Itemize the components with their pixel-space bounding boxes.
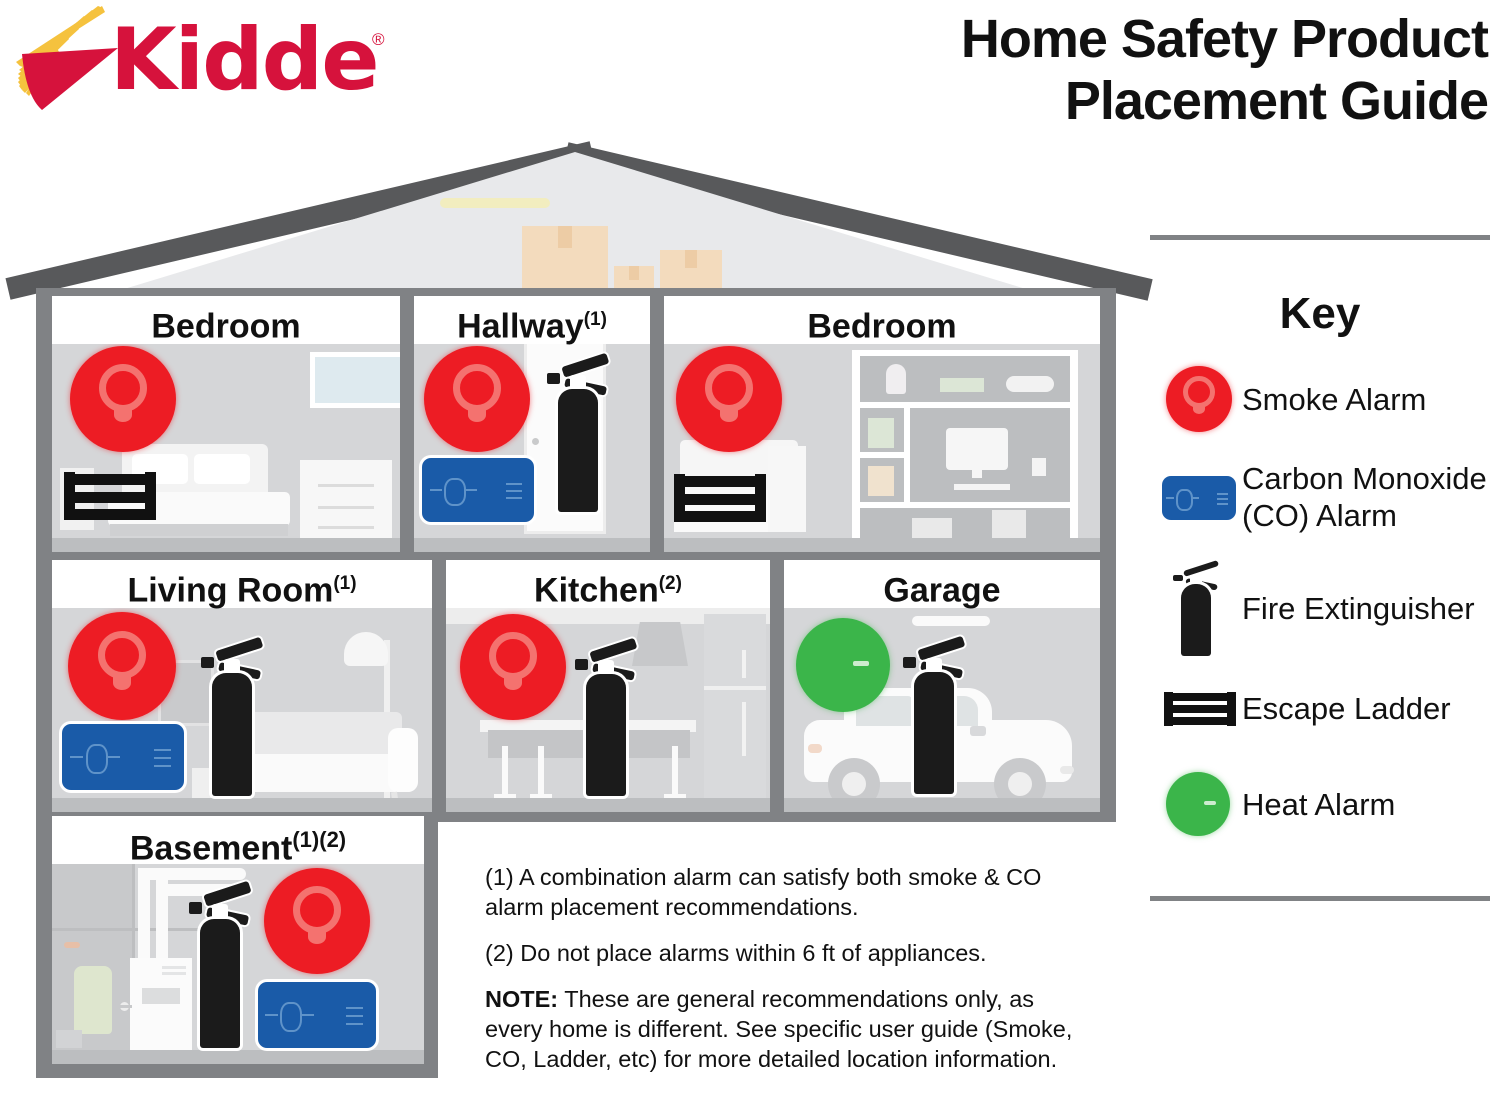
- kidde-fan-icon: [6, 4, 126, 114]
- co-alarm-tick: [346, 1023, 363, 1025]
- key-label-fire-extinguisher: Fire Extinguisher: [1242, 590, 1475, 627]
- room-basement[interactable]: Basement(1)(2): [52, 816, 424, 1064]
- shelf-box: [56, 1030, 82, 1048]
- room-divider-main-2: [770, 560, 784, 812]
- extinguisher-body: [914, 672, 955, 794]
- smoke-alarm-icon[interactable]: [70, 346, 176, 452]
- room-label-bedroom-left: Bedroom: [52, 296, 400, 344]
- smoke-alarm-ring: [705, 364, 753, 412]
- co-alarm-vent: [280, 1002, 302, 1032]
- key-label-heat-alarm: Heat Alarm: [1242, 786, 1395, 823]
- page-title-line1: Home Safety Product: [768, 8, 1488, 70]
- heat-alarm-icon[interactable]: [796, 618, 890, 712]
- key-bottom-rule: [1150, 896, 1490, 901]
- smoke-alarm-icon[interactable]: [424, 346, 530, 452]
- co-alarm-tick: [1166, 497, 1174, 499]
- co-alarm-tick: [107, 756, 120, 758]
- refrigerator: [704, 614, 766, 800]
- room-divider-upper-1: [400, 296, 414, 554]
- dresser-drawer-line: [318, 506, 374, 509]
- smoke-alarm-icon: [1150, 360, 1242, 438]
- barstool: [672, 746, 678, 798]
- dresser-drawer-line: [318, 484, 374, 487]
- room-bedroom-left[interactable]: Bedroom: [52, 296, 400, 552]
- room-label-text: Living Room: [127, 571, 333, 609]
- extinguisher-handle: [203, 881, 252, 907]
- co-alarm-icon[interactable]: [258, 982, 376, 1048]
- room-label-text: Basement: [130, 829, 293, 867]
- smoke-alarm-icon[interactable]: [264, 868, 370, 974]
- room-kitchen[interactable]: Kitchen(2): [446, 560, 770, 812]
- key-legend: Key Smoke Alarm Carbon Monoxide (CO) Ala…: [1150, 235, 1490, 901]
- keyboard: [954, 484, 1010, 490]
- barstool: [502, 746, 508, 798]
- extinguisher-body: [212, 673, 253, 796]
- room-label-sup: (1): [584, 309, 607, 330]
- extinguisher-pin: [189, 902, 202, 914]
- attic-space: [40, 138, 1110, 308]
- key-label-co-alarm: Carbon Monoxide (CO) Alarm: [1242, 460, 1490, 534]
- extinguisher-pin: [575, 659, 588, 670]
- smoke-alarm-icon[interactable]: [68, 612, 176, 720]
- car-mirror: [970, 726, 986, 736]
- room-label-text: Bedroom: [151, 307, 300, 345]
- fire-extinguisher-icon: [1150, 556, 1242, 660]
- garage-scene: [784, 606, 1100, 812]
- key-item-smoke-alarm[interactable]: Smoke Alarm: [1150, 360, 1490, 438]
- key-label-smoke-alarm: Smoke Alarm: [1242, 381, 1426, 418]
- smoke-alarm-ring: [99, 364, 147, 412]
- room-floor: [446, 798, 770, 812]
- heat-alarm-dash: [1204, 801, 1216, 805]
- escape-ladder-icon[interactable]: [674, 474, 766, 522]
- smoke-alarm-bulb: [114, 408, 132, 422]
- key-item-escape-ladder[interactable]: Escape Ladder: [1150, 660, 1490, 756]
- key-heading: Key: [1150, 240, 1490, 360]
- barstool: [538, 746, 544, 798]
- room-label-basement: Basement(1)(2): [52, 816, 424, 864]
- extinguisher-handle: [917, 636, 965, 661]
- pillow: [194, 454, 250, 484]
- room-divider-main-1: [432, 560, 446, 812]
- co-alarm-vent: [1176, 489, 1193, 511]
- escape-ladder-icon[interactable]: [64, 472, 156, 520]
- ladder-rung: [1164, 705, 1236, 713]
- footnote-2: (2) Do not place alarms within 6 ft of a…: [485, 938, 1085, 968]
- room-garage[interactable]: Garage: [784, 560, 1100, 812]
- co-alarm-tick: [506, 483, 522, 485]
- supply-line: [112, 1005, 132, 1008]
- co-alarm-tick: [506, 497, 522, 499]
- key-item-co-alarm[interactable]: Carbon Monoxide (CO) Alarm: [1150, 438, 1490, 556]
- co-alarm-tick: [346, 1007, 363, 1009]
- ladder-rung: [64, 509, 156, 520]
- shelf-figurine: [886, 364, 906, 394]
- attic-light-fixture: [440, 198, 550, 208]
- heat-alarm-dash: [853, 661, 869, 666]
- co-alarm-tick: [1217, 498, 1228, 500]
- extinguisher-pin: [903, 657, 916, 668]
- pipe-horizontal: [138, 868, 246, 880]
- ladder-rung: [1164, 717, 1236, 725]
- co-alarm-vent: [444, 478, 466, 506]
- box-flap: [558, 226, 572, 248]
- co-alarm-tick: [154, 765, 171, 767]
- box-flap: [685, 250, 697, 268]
- extinguisher-handle: [1183, 561, 1219, 578]
- fire-extinguisher-icon[interactable]: [200, 638, 264, 796]
- key-item-fire-extinguisher[interactable]: Fire Extinguisher: [1150, 556, 1490, 660]
- room-label-text: Kitchen: [534, 571, 659, 609]
- smoke-alarm-ring: [489, 632, 537, 680]
- furnace-vent: [162, 966, 186, 969]
- co-alarm-tick: [1217, 493, 1228, 495]
- co-alarm-tick: [430, 489, 442, 491]
- smoke-alarm-bulb: [504, 676, 522, 690]
- water-heater: [74, 966, 112, 1034]
- room-floor: [52, 538, 400, 552]
- footnote-note-body: These are general recommendations only, …: [485, 986, 1072, 1072]
- car-headlight: [808, 744, 822, 753]
- room-bedroom-right[interactable]: Bedroom: [664, 296, 1100, 552]
- escape-ladder-icon: [1150, 660, 1242, 756]
- room-label-garage: Garage: [784, 560, 1100, 608]
- room-hallway[interactable]: Hallway(1): [414, 296, 650, 552]
- desk-under-area: [860, 508, 1070, 542]
- refrigerator-handle: [742, 702, 746, 756]
- pencil-cup: [1032, 458, 1046, 476]
- room-divider-upper-2: [650, 296, 664, 554]
- room-label-living-room: Living Room(1): [52, 560, 432, 608]
- smoke-alarm-bulb: [113, 676, 131, 690]
- box-flap: [629, 266, 639, 280]
- refrigerator-handle: [742, 650, 746, 678]
- footnote-1: (1) A combination alarm can satisfy both…: [485, 862, 1085, 922]
- smoke-alarm-bulb: [468, 408, 486, 422]
- fire-extinguisher-icon[interactable]: [188, 882, 252, 1048]
- smoke-alarm-ring: [293, 886, 341, 934]
- co-alarm-icon[interactable]: [62, 724, 184, 790]
- bedroom-left-scene: [52, 342, 400, 552]
- smoke-alarm-icon[interactable]: [460, 614, 566, 720]
- furnace-panel: [142, 988, 180, 1004]
- page-title: Home Safety Product Placement Guide: [768, 8, 1488, 132]
- registered-mark: ®: [372, 30, 385, 50]
- monitor: [946, 428, 1008, 470]
- co-alarm-tick: [346, 1015, 363, 1017]
- key-label-escape-ladder: Escape Ladder: [1242, 690, 1451, 727]
- smoke-alarm-bulb: [308, 930, 326, 944]
- footnotes: (1) A combination alarm can satisfy both…: [485, 862, 1085, 1090]
- shelf-picture-frame: [868, 466, 894, 496]
- window: [310, 352, 400, 408]
- shelf-book-stack: [940, 378, 984, 392]
- smoke-alarm-bulb: [1193, 404, 1205, 414]
- room-floor: [52, 1050, 424, 1064]
- kitchen-scene: [446, 606, 770, 812]
- monitor-stand: [972, 470, 982, 478]
- extinguisher-body: [200, 919, 241, 1048]
- room-floor: [784, 798, 1100, 812]
- bed-base: [110, 524, 288, 536]
- room-label-text: Garage: [883, 571, 1000, 609]
- room-living-room[interactable]: Living Room(1): [52, 560, 432, 812]
- ladder-rung: [1164, 693, 1236, 701]
- room-label-sup: (1)(2): [292, 827, 346, 852]
- smoke-alarm-icon[interactable]: [676, 346, 782, 452]
- co-alarm-tick: [301, 1014, 314, 1016]
- pipe-vertical: [156, 868, 168, 960]
- co-alarm-tick: [154, 757, 171, 759]
- furnace-vent: [162, 972, 186, 975]
- co-alarm-tick: [1217, 503, 1228, 505]
- ladder-rung: [674, 476, 766, 487]
- co-alarm-icon: [1150, 438, 1242, 556]
- door-knob: [532, 438, 539, 445]
- co-alarm-tick: [465, 489, 477, 491]
- floor-lamp-shade: [344, 632, 388, 666]
- living-room-scene: [52, 606, 432, 812]
- shelf-birds: [1006, 376, 1054, 392]
- house-left-wall: [36, 288, 52, 1078]
- garage-door-light: [912, 616, 990, 626]
- ladder-rung: [674, 511, 766, 522]
- room-label-sup: (1): [333, 573, 356, 594]
- room-label-text: Bedroom: [807, 307, 956, 345]
- footnote-note-label: NOTE:: [485, 986, 558, 1012]
- ladder-rung: [64, 474, 156, 485]
- co-alarm-vent: [86, 744, 108, 774]
- room-label-bedroom-right: Bedroom: [664, 296, 1100, 344]
- extinguisher-handle: [561, 352, 609, 377]
- smoke-alarm-ring: [453, 364, 501, 412]
- basement-scene: [52, 862, 424, 1064]
- ladder-rung: [674, 494, 766, 505]
- house-bottom-plate: [36, 1064, 438, 1078]
- car-taillight: [1060, 766, 1074, 774]
- kidde-wordmark: Kidde: [110, 10, 378, 110]
- co-alarm-tick: [265, 1014, 278, 1016]
- key-item-heat-alarm[interactable]: Heat Alarm: [1150, 756, 1490, 852]
- extinguisher-pin: [1173, 575, 1183, 581]
- nightstand: [768, 446, 806, 532]
- extinguisher-pin: [201, 657, 214, 668]
- co-alarm-tick: [1191, 497, 1199, 499]
- extinguisher-handle: [215, 636, 263, 661]
- bedroom-right-scene: [664, 342, 1100, 552]
- room-label-sup: (2): [659, 573, 682, 594]
- hallway-scene: [414, 342, 650, 552]
- extinguisher-body: [558, 389, 599, 512]
- co-alarm-tick: [506, 490, 522, 492]
- ladder-rung: [64, 492, 156, 503]
- room-floor: [52, 798, 432, 812]
- fire-extinguisher-icon[interactable]: [902, 638, 966, 794]
- footnote-note: NOTE: These are general recommendations …: [485, 984, 1085, 1074]
- heat-alarm-icon: [1150, 756, 1242, 852]
- shelf-books: [868, 418, 894, 448]
- co-alarm-icon[interactable]: [422, 458, 534, 522]
- room-label-kitchen: Kitchen(2): [446, 560, 770, 608]
- sofa-arm: [388, 728, 418, 792]
- smoke-alarm-ring: [98, 631, 146, 679]
- range-hood: [632, 622, 688, 666]
- room-label-hallway: Hallway(1): [414, 296, 650, 344]
- car-wheel-hub: [1008, 772, 1032, 796]
- kidde-logo: Kidde ®: [6, 4, 386, 114]
- smoke-alarm-bulb: [720, 408, 738, 422]
- extinguisher-body: [1181, 584, 1212, 656]
- valve: [64, 942, 80, 948]
- room-label-text: Hallway: [457, 307, 584, 345]
- dresser-drawer-line: [318, 526, 374, 529]
- fire-extinguisher-icon[interactable]: [574, 640, 638, 796]
- room-floor: [664, 538, 1100, 552]
- co-alarm-tick: [154, 749, 171, 751]
- extinguisher-pin: [547, 373, 560, 384]
- fire-extinguisher-icon[interactable]: [546, 354, 610, 512]
- refrigerator-seam: [704, 686, 766, 690]
- co-alarm-tick: [70, 756, 83, 758]
- pipe-vertical: [138, 868, 150, 960]
- room-floor: [414, 538, 650, 552]
- car-wheel-hub: [842, 772, 866, 796]
- extinguisher-body: [586, 674, 627, 796]
- extinguisher-handle: [589, 638, 637, 663]
- basement-right-wall: [424, 816, 438, 1078]
